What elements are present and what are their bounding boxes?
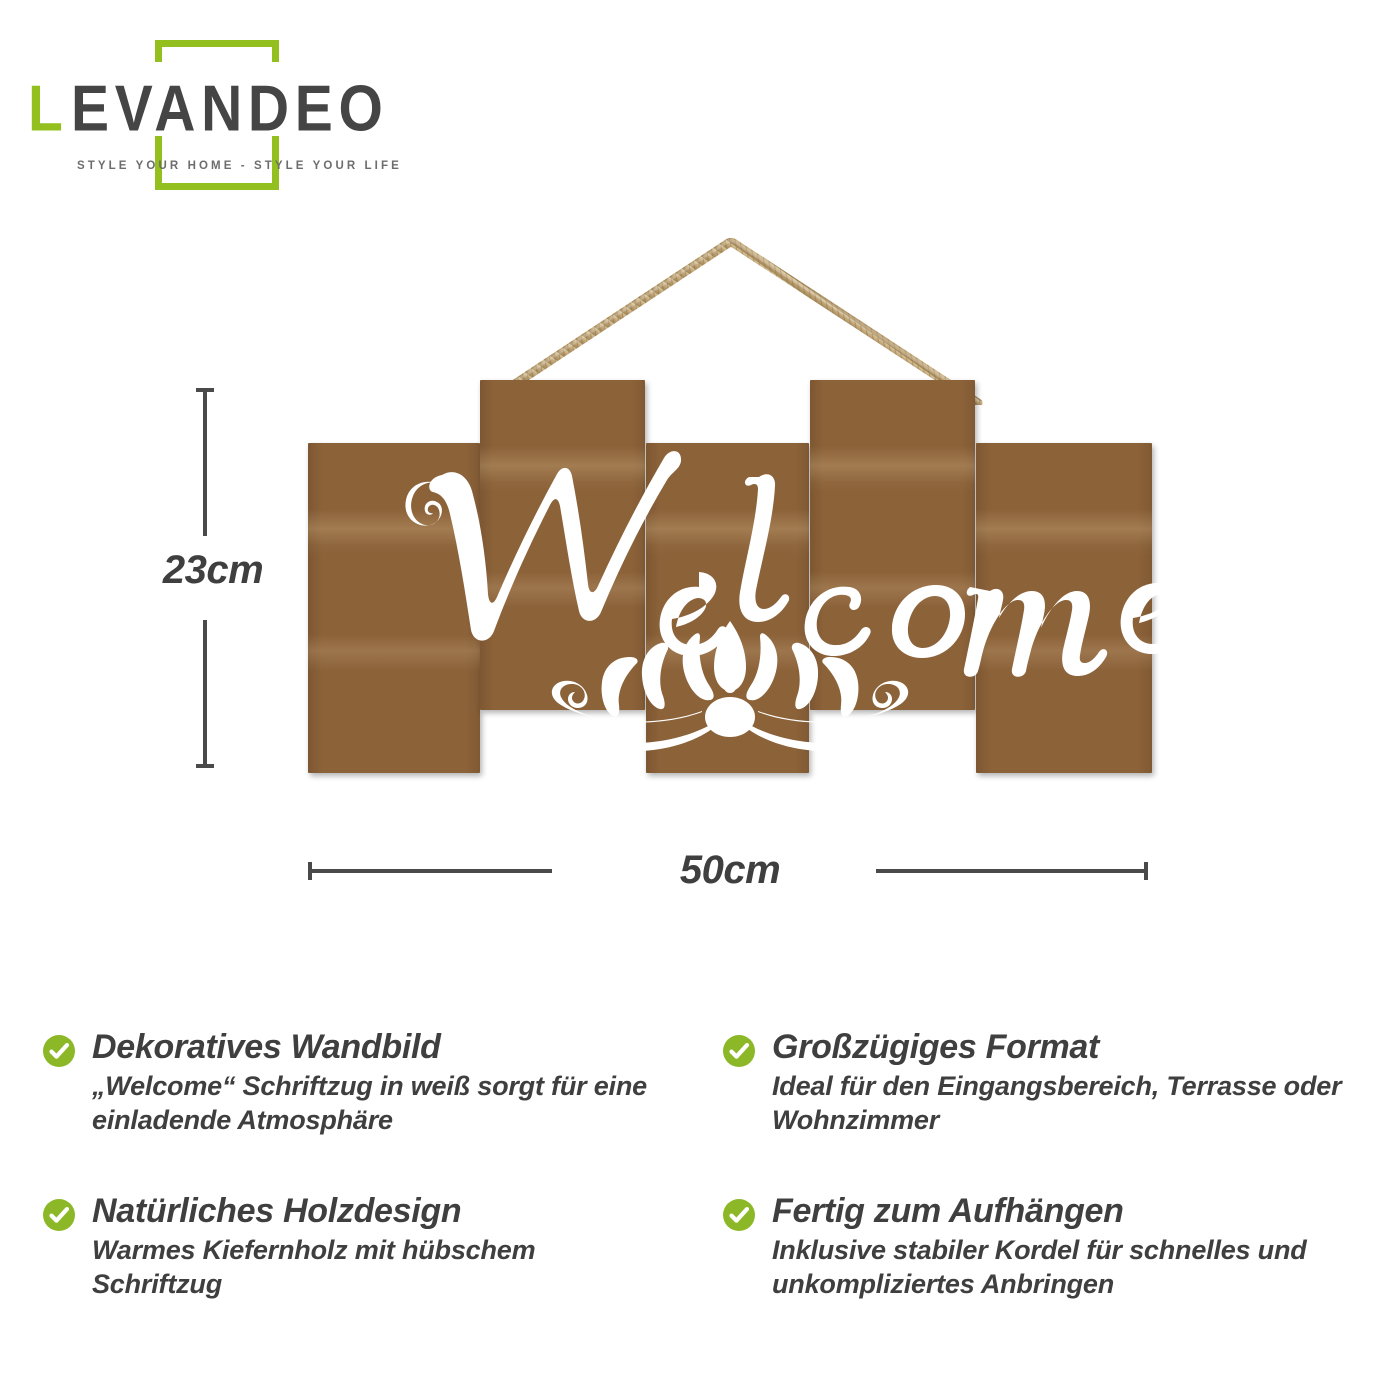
feature-title: Großzügiges Format	[772, 1028, 1099, 1066]
width-dimension-segment-left	[312, 869, 552, 873]
logo-tagline: STYLE YOUR HOME - STYLE YOUR LIFE	[77, 160, 407, 172]
logo-wordmark-lead: L	[28, 77, 69, 142]
check-circle-icon	[42, 1034, 76, 1068]
plank-1	[308, 443, 480, 773]
feature-description: Ideal für den Eingangsbereich, Terrasse …	[772, 1069, 1342, 1137]
feature-description: „Welcome“ Schriftzug in weiß sorgt für e…	[92, 1069, 662, 1137]
feature-row-1: Dekoratives Wandbild „Welcome“ Schriftzu…	[42, 1028, 1362, 1137]
check-circle-icon	[722, 1198, 756, 1232]
feature-description: Inklusive stabiler Kordel für schnelles …	[772, 1233, 1332, 1301]
width-dimension-segment-right	[876, 869, 1144, 873]
logo-wordmark: LEVANDEO	[28, 78, 418, 140]
plank-4	[810, 380, 975, 710]
feature-row-2: Natürliches Holzdesign Warmes Kiefernhol…	[42, 1192, 1362, 1301]
height-dimension-label: 23cm	[148, 548, 278, 593]
plank-2	[480, 380, 645, 710]
feature-title: Fertig zum Aufhängen	[772, 1192, 1124, 1230]
brand-logo: LEVANDEO STYLE YOUR HOME - STYLE YOUR LI…	[22, 24, 422, 196]
plank-group	[290, 225, 1170, 795]
feature-description: Warmes Kiefernholz mit hübschem Schriftz…	[92, 1233, 612, 1301]
feature-item-3: Fertig zum Aufhängen Inklusive stabiler …	[702, 1192, 1362, 1301]
feature-item-2: Natürliches Holzdesign Warmes Kiefernhol…	[42, 1192, 702, 1301]
feature-list: Dekoratives Wandbild „Welcome“ Schriftzu…	[42, 1028, 1362, 1301]
product-infographic: LEVANDEO STYLE YOUR HOME - STYLE YOUR LI…	[0, 0, 1400, 1400]
feature-item-0: Dekoratives Wandbild „Welcome“ Schriftzu…	[42, 1028, 702, 1137]
check-circle-icon	[722, 1034, 756, 1068]
width-dimension-cap-right	[1144, 862, 1148, 880]
check-circle-icon	[42, 1198, 76, 1232]
plank-5	[976, 443, 1152, 773]
height-dimension-cap-bottom	[196, 764, 214, 768]
plank-3	[646, 443, 809, 773]
feature-title: Dekoratives Wandbild	[92, 1028, 441, 1066]
height-dimension-segment-bottom	[203, 620, 207, 764]
feature-item-1: Großzügiges Format Ideal für den Eingang…	[702, 1028, 1362, 1137]
logo-wordmark-rest: EVANDEO	[71, 77, 389, 142]
product-image-wooden-welcome-sign	[290, 225, 1170, 795]
feature-title: Natürliches Holzdesign	[92, 1192, 461, 1230]
height-dimension-segment-top	[203, 392, 207, 536]
width-dimension-label: 50cm	[600, 848, 860, 893]
